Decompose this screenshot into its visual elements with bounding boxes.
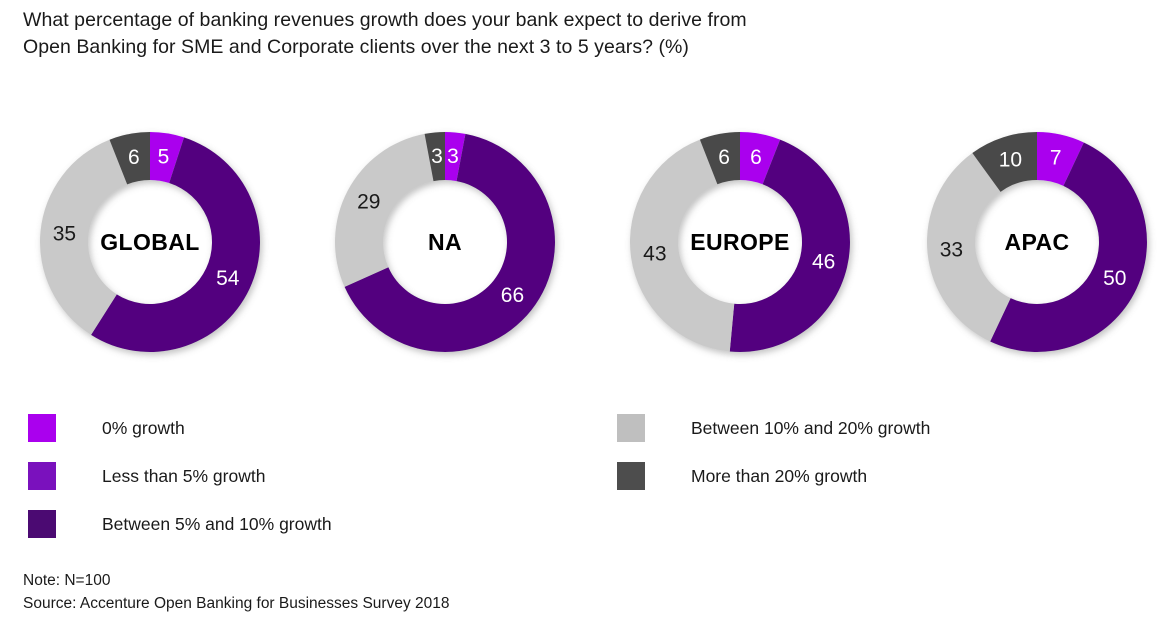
donut-chart-apac: 7503310APAC <box>912 97 1162 387</box>
legend-swatch-less-than-5-growth <box>28 462 56 490</box>
legend-label-less-than-5-growth: Less than 5% growth <box>102 466 265 487</box>
legend-item-between-10-and-20-growth[interactable]: Between 10% and 20% growth <box>617 404 930 452</box>
donut-slice-value-apac-33: 33 <box>940 239 963 262</box>
footnote-source: Source: Accenture Open Banking for Busin… <box>23 592 450 615</box>
legend-swatch-between-5-and-10-growth <box>28 510 56 538</box>
legend-item-more-than-20-growth[interactable]: More than 20% growth <box>617 452 930 500</box>
donut-slice-value-global-6: 6 <box>128 146 140 169</box>
donut-svg-apac: 7503310 <box>912 97 1162 387</box>
legend-label-between-5-and-10-growth: Between 5% and 10% growth <box>102 514 332 535</box>
donut-slice-na-29 <box>335 134 433 287</box>
donut-svg-global: 554356 <box>25 97 275 387</box>
donut-svg-europe: 646436 <box>615 97 865 387</box>
donut-chart-row: 554356GLOBAL366293NA646436EUROPE7503310A… <box>0 97 1171 387</box>
donut-slice-value-apac-7: 7 <box>1050 147 1062 170</box>
donut-svg-na: 366293 <box>320 97 570 387</box>
legend-item-between-5-and-10-growth[interactable]: Between 5% and 10% growth <box>28 500 332 548</box>
legend-column-right: Between 10% and 20% growthMore than 20% … <box>617 404 930 500</box>
legend-label-more-than-20-growth: More than 20% growth <box>691 466 867 487</box>
footnote: Note: N=100 Source: Accenture Open Banki… <box>23 569 450 615</box>
donut-slice-value-na-3: 3 <box>447 145 459 168</box>
legend-label-0-growth: 0% growth <box>102 418 185 439</box>
legend-label-between-10-and-20-growth: Between 10% and 20% growth <box>691 418 930 439</box>
page-title: What percentage of banking revenues grow… <box>23 7 1023 61</box>
donut-chart-global: 554356GLOBAL <box>25 97 275 387</box>
legend-item-less-than-5-growth[interactable]: Less than 5% growth <box>28 452 332 500</box>
donut-slice-value-europe-6: 6 <box>750 146 762 169</box>
donut-slice-value-europe-6: 6 <box>718 146 730 169</box>
footnote-note: Note: N=100 <box>23 569 450 592</box>
donut-slice-value-na-3: 3 <box>431 145 443 168</box>
donut-slice-value-europe-43: 43 <box>643 242 666 265</box>
donut-slice-value-global-35: 35 <box>53 222 76 245</box>
donut-slice-value-apac-50: 50 <box>1103 267 1126 290</box>
donut-chart-na: 366293NA <box>320 97 570 387</box>
donut-chart-europe: 646436EUROPE <box>615 97 865 387</box>
donut-slice-value-apac-10: 10 <box>999 149 1022 172</box>
legend-swatch-more-than-20-growth <box>617 462 645 490</box>
donut-slice-value-europe-46: 46 <box>812 250 835 273</box>
legend-swatch-0-growth <box>28 414 56 442</box>
donut-slice-value-na-66: 66 <box>501 284 524 307</box>
donut-slice-value-global-54: 54 <box>216 267 240 290</box>
legend-item-0-growth[interactable]: 0% growth <box>28 404 332 452</box>
legend-swatch-between-10-and-20-growth <box>617 414 645 442</box>
donut-slice-value-global-5: 5 <box>158 146 170 169</box>
chart-legend: 0% growthLess than 5% growthBetween 5% a… <box>0 404 1171 554</box>
donut-slice-value-na-29: 29 <box>357 191 380 214</box>
legend-column-left: 0% growthLess than 5% growthBetween 5% a… <box>28 404 332 548</box>
